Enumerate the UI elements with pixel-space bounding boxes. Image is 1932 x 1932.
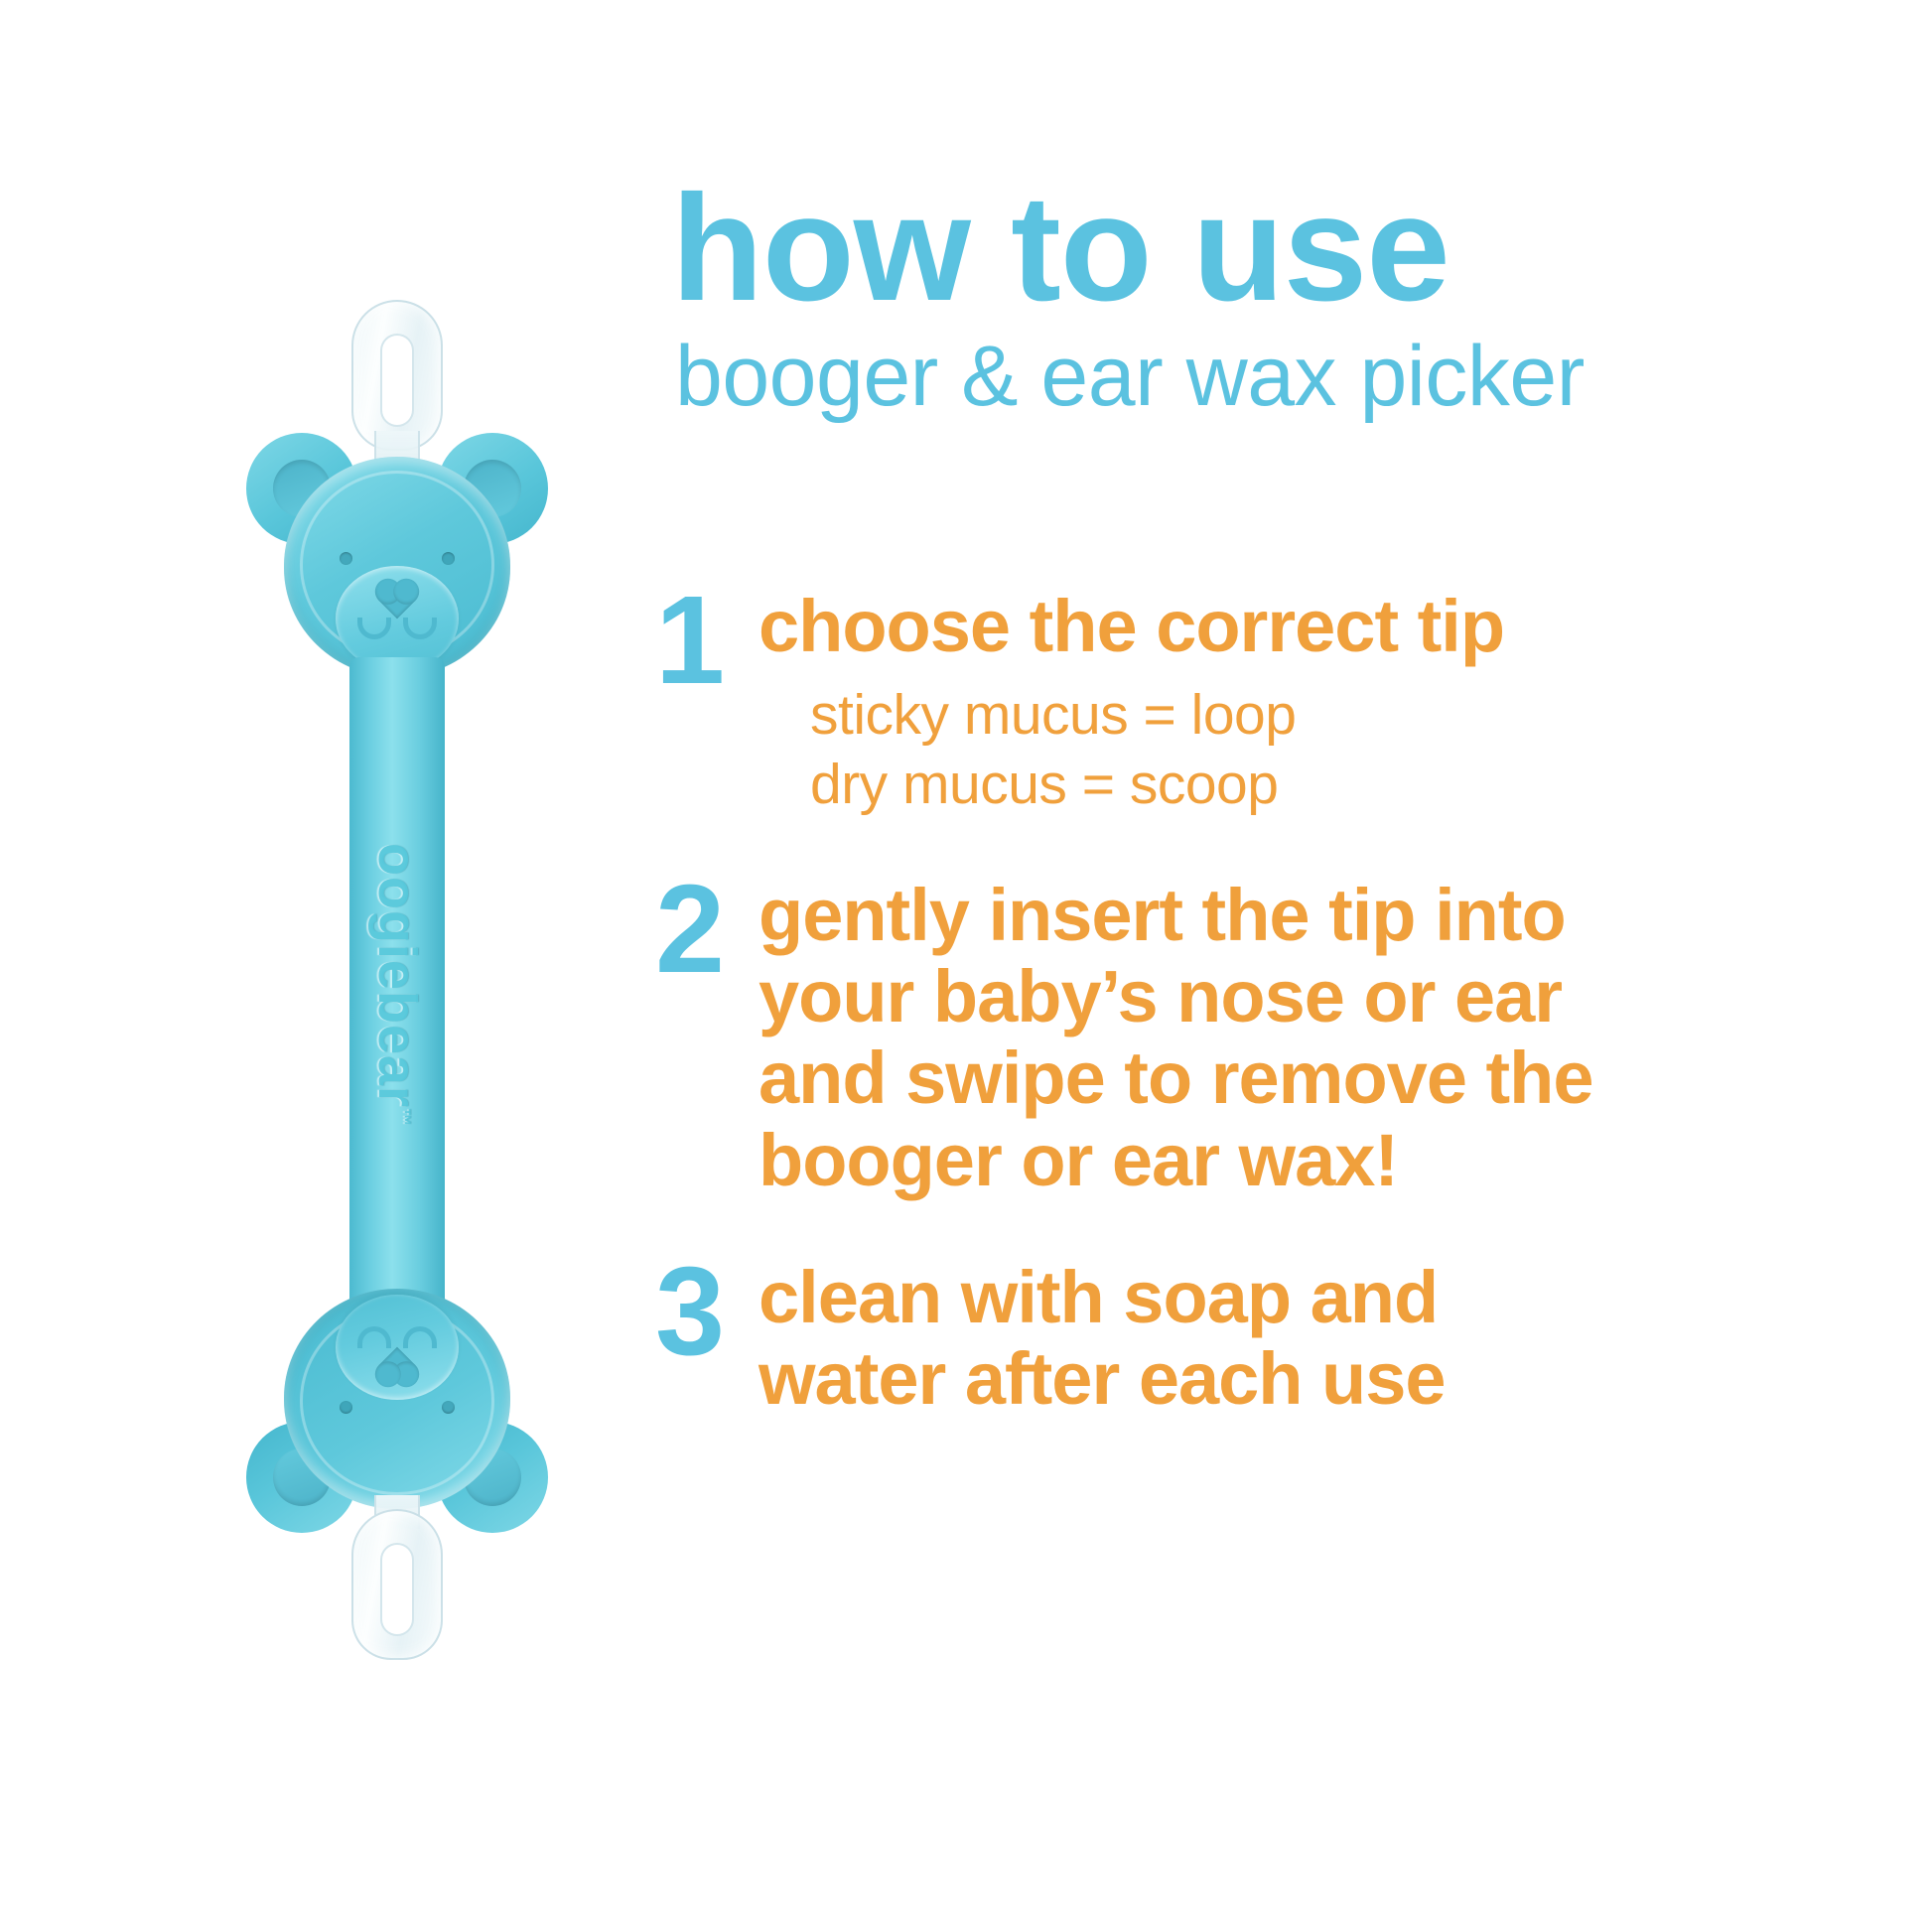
- step-line: and swipe to remove the: [759, 1037, 1866, 1119]
- step-item: 2 gently insert the tip into your baby’s…: [655, 875, 1866, 1201]
- brand-emboss-text: oogiebear: [367, 843, 427, 1108]
- bear-mouth-left-bottom: [403, 1326, 437, 1348]
- bear-mouth-right-bottom: [357, 1326, 391, 1348]
- step-number: 3: [655, 1257, 759, 1364]
- product-handle: oogiebear™: [349, 657, 445, 1312]
- bear-nose-heart-icon-bottom: [379, 1347, 416, 1384]
- page-subtitle: booger & ear wax picker: [675, 332, 1863, 421]
- steps-list: 1 choose the correct tip sticky mucus = …: [655, 586, 1866, 1475]
- bear-eye-right-bottom: [340, 1401, 352, 1414]
- instructions-panel: how to use booger & ear wax picker 1 cho…: [655, 0, 1866, 1932]
- step-number: 1: [655, 586, 759, 693]
- product-image: oogiebear™: [179, 278, 616, 1688]
- step-line: water after each use: [759, 1338, 1866, 1420]
- bear-face: [284, 457, 510, 677]
- step-item: 1 choose the correct tip sticky mucus = …: [655, 586, 1866, 819]
- header-block: how to use booger & ear wax picker: [671, 177, 1863, 422]
- step-item: 3 clean with soap and water after each u…: [655, 1257, 1866, 1420]
- bear-snout-bottom: [336, 1295, 459, 1400]
- step-body: choose the correct tip sticky mucus = lo…: [759, 586, 1866, 819]
- scoop-tip-hole: [380, 1543, 414, 1636]
- bear-head-top: [248, 417, 546, 685]
- step-line: gently insert the tip into: [759, 875, 1866, 956]
- brand-emboss-label: oogiebear™: [366, 843, 428, 1127]
- step-line: booger or ear wax!: [759, 1120, 1866, 1201]
- step-body: gently insert the tip into your baby’s n…: [759, 875, 1866, 1201]
- oogiebear-tool: oogiebear™: [179, 278, 616, 1688]
- step-subline: sticky mucus = loop: [810, 681, 1866, 751]
- bear-eye-right: [442, 552, 455, 565]
- step-body: clean with soap and water after each use: [759, 1257, 1866, 1420]
- bear-mouth-right: [403, 618, 437, 639]
- bear-nose-heart-icon: [379, 583, 416, 620]
- bear-eye-left-bottom: [442, 1401, 455, 1414]
- scoop-tip-icon: [351, 1509, 443, 1660]
- bear-eye-left: [340, 552, 352, 565]
- bear-snout: [336, 566, 459, 671]
- loop-tip-hole: [380, 334, 414, 427]
- step-subline: dry mucus = scoop: [810, 751, 1866, 820]
- step-line: clean with soap and: [759, 1257, 1866, 1338]
- step-line: choose the correct tip: [759, 586, 1866, 667]
- page-title: how to use: [671, 177, 1863, 320]
- trademark-mark: ™: [394, 1108, 414, 1127]
- bear-face-bottom: [284, 1289, 510, 1509]
- step-number: 2: [655, 875, 759, 982]
- bear-mouth-left: [357, 618, 391, 639]
- step-line: your baby’s nose or ear: [759, 956, 1866, 1037]
